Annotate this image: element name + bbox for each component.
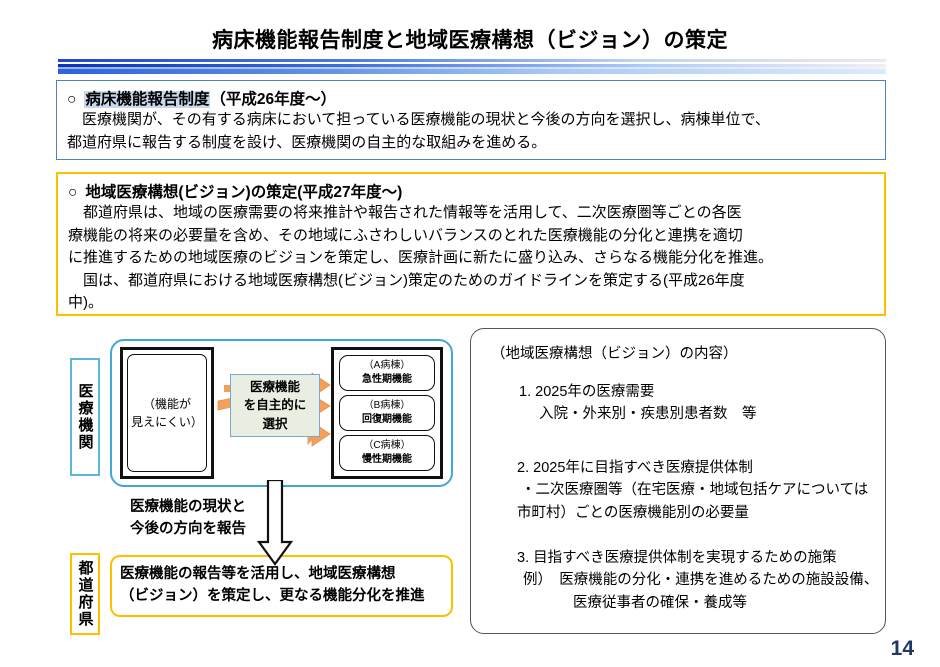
voluntary-selection-text: 医療機能 を自主的に 選択 — [244, 378, 307, 432]
vision-item-3-line-3: 医療従事者の確保・養成等 — [517, 592, 878, 614]
vision-body-line-5: 中)。 — [68, 292, 876, 315]
vision-body-line-4: 国は、都道府県における地域医療構想(ビジョン)策定のためのガイドラインを策定する… — [68, 270, 876, 293]
title-divider-rule — [58, 59, 886, 74]
vision-item-3-title: 目指すべき医療提供体制を実現するための施策 — [533, 550, 836, 566]
vision-item-3-number: 3. — [517, 550, 529, 566]
voluntary-selection-line-2: を自主的に — [244, 398, 307, 412]
reporting-system-heading: ○病床機能報告制度（平成26年度〜） — [67, 87, 336, 109]
vision-formulation-heading-text: 地域医療構想(ビジョン)の策定(平成27年度〜) — [85, 184, 402, 201]
vision-body-line-1: 都道府県は、地域の医療需要の将来推計や報告された情報等を活用して、二次医療圏等ご… — [68, 202, 876, 225]
vision-item-3-line-1: 3. 目指すべき医療提供体制を実現するための施策 — [517, 547, 878, 569]
vision-formulation-heading: ○地域医療構想(ビジョン)の策定(平成27年度〜) — [68, 180, 402, 202]
vision-item-3-line-2: 例） 医療機能の分化・連携を進めるための施設設備、 — [517, 569, 878, 591]
reporting-system-body-line-1: 医療機関が、その有する病床において担っている医療機能の現状と今後の方向を選択し、… — [67, 109, 877, 132]
vision-body-line-3: に推進するための地域医療のビジョンを策定し、医療計画に新たに盛り込み、さらなる機… — [68, 247, 876, 270]
vision-contents-panel-title: （地域医療構想（ビジョン）の内容） — [491, 342, 738, 363]
vision-item-1-number: 1. — [519, 384, 531, 400]
reporting-system-heading-tail: （平成26年度〜） — [210, 91, 336, 108]
prefecture-action-text: 医療機能の報告等を活用し、地域医療構想 （ビジョン）を策定し、更なる機能分化を推… — [112, 564, 425, 608]
vision-item-1-title: 2025年の医療需要 — [535, 384, 654, 400]
vision-item-2-title: 2025年に目指すべき医療提供体制 — [533, 460, 753, 476]
voluntary-selection-line-3: 選択 — [262, 417, 287, 431]
vision-content-item-2: 2. 2025年に目指すべき医療提供体制 ・二次医療圏等（在宅医療・地域包括ケア… — [517, 457, 868, 524]
rule-band-5 — [58, 69, 886, 74]
bullet-circle-icon: ○ — [68, 184, 77, 201]
statement-box-vision-formulation: ○地域医療構想(ビジョン)の策定(平成27年度〜) 都道府県は、地域の医療需要の… — [56, 172, 886, 316]
vision-item-1-line-2: 入院・外来別・疾患別患者数 等 — [519, 403, 757, 425]
reporting-system-heading-highlight: 病床機能報告制度 — [84, 91, 210, 108]
vision-content-item-3: 3. 目指すべき医療提供体制を実現するための施策 例） 医療機能の分化・連携を進… — [517, 547, 878, 614]
vision-item-2-number: 2. — [517, 460, 529, 476]
vision-content-item-1: 1. 2025年の医療需要 入院・外来別・疾患別患者数 等 — [519, 381, 757, 426]
report-flow-note-line-1: 医療機能の現状と — [130, 499, 246, 515]
vision-item-1-line-1: 1. 2025年の医療需要 — [519, 381, 757, 403]
prefecture-action-line-2: （ビジョン）を策定し、更なる機能分化を推進 — [120, 588, 425, 604]
bullet-circle-icon: ○ — [67, 91, 76, 108]
reporting-system-body: 医療機関が、その有する病床において担っている医療機能の現状と今後の方向を選択し、… — [67, 109, 877, 154]
vision-item-2-line-3: 市町村）ごとの医療機能別の必要量 — [517, 502, 868, 524]
diagram-label-prefecture: 都道府県 — [70, 553, 100, 635]
vision-item-2-line-1: 2. 2025年に目指すべき医療提供体制 — [517, 457, 868, 479]
statement-box-reporting-system: ○病床機能報告制度（平成26年度〜） 医療機関が、その有する病床において担ってい… — [56, 80, 886, 160]
page-number: 14 — [891, 637, 914, 661]
page-title: 病床機能報告制度と地域医療構想（ビジョン）の策定 — [0, 24, 940, 54]
vision-formulation-body: 都道府県は、地域の医療需要の将来推計や報告された情報等を活用して、二次医療圏等ご… — [68, 202, 876, 315]
diagram-hospital-container: （機能が 見えにくい） 医療機能 を自主的に 選択 （A病棟） 急性期機能 （B… — [110, 339, 453, 487]
voluntary-selection-line-1: 医療機能 — [250, 380, 300, 394]
report-flow-note: 医療機能の現状と 今後の方向を報告 — [130, 497, 246, 541]
vision-item-2-line-2: ・二次医療圏等（在宅医療・地域包括ケアについては — [517, 479, 868, 501]
vision-body-line-2: 療機能の将来の必要量を含め、その地域にふさわしいバランスのとれた医療機能の分化と… — [68, 225, 876, 248]
prefecture-action-line-1: 医療機能の報告等を活用し、地域医療構想 — [120, 566, 396, 582]
report-flow-note-line-2: 今後の方向を報告 — [130, 521, 246, 537]
vision-contents-panel: （地域医療構想（ビジョン）の内容） 1. 2025年の医療需要 入院・外来別・疾… — [470, 328, 886, 634]
voluntary-selection-box: 医療機能 を自主的に 選択 — [230, 374, 320, 437]
diagram-label-medical-institution: 医療機関 — [70, 358, 100, 476]
downward-flow-arrow-icon — [255, 480, 295, 568]
reporting-system-body-line-2: 都道府県に報告する制度を設け、医療機関の自主的な取組みを進める。 — [67, 132, 877, 155]
